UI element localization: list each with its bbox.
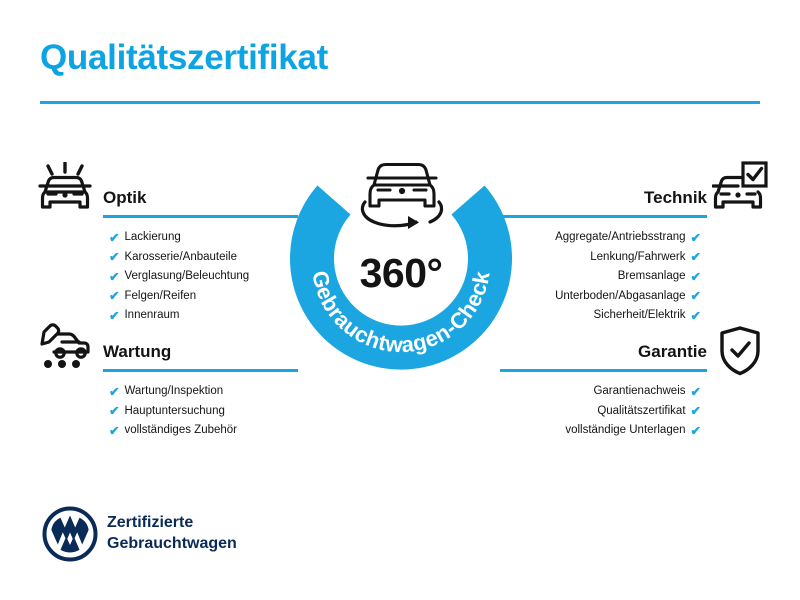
list-item: ✔Innenraum bbox=[103, 306, 298, 326]
list-item-label: Qualitätszertifikat bbox=[597, 402, 685, 422]
list-item: Garantienachweis✔ bbox=[500, 382, 707, 402]
list-item-label: Karosserie/Anbauteile bbox=[124, 248, 237, 268]
certificate-page: Qualitätszertifikat bbox=[0, 0, 800, 600]
section-technik-title: Technik bbox=[500, 186, 707, 210]
list-item: ✔vollständiges Zubehör bbox=[103, 421, 298, 441]
section-wartung: Wartung ✔Wartung/Inspektion ✔Hauptunters… bbox=[103, 340, 298, 441]
section-technik-list: Aggregate/Antriebsstrang✔ Lenkung/Fahrwe… bbox=[500, 228, 707, 326]
list-item: Bremsanlage✔ bbox=[500, 267, 707, 287]
section-garantie-list: Garantienachweis✔ Qualitätszertifikat✔ v… bbox=[500, 382, 707, 441]
list-item-label: vollständiges Zubehör bbox=[124, 421, 237, 441]
section-wartung-divider bbox=[103, 369, 298, 372]
list-item-label: Lackierung bbox=[124, 228, 180, 248]
check-icon: ✔ bbox=[109, 271, 119, 284]
list-item: ✔Lackierung bbox=[103, 228, 298, 248]
check-icon: ✔ bbox=[691, 232, 701, 245]
check-icon: ✔ bbox=[109, 232, 119, 245]
car-rotate-icon bbox=[352, 154, 452, 232]
list-item: Sicherheit/Elektrik✔ bbox=[500, 306, 707, 326]
shield-check-icon bbox=[718, 326, 762, 381]
check-icon: ✔ bbox=[691, 405, 701, 418]
list-item-label: Hauptuntersuchung bbox=[124, 402, 224, 422]
check-icon: ✔ bbox=[109, 386, 119, 399]
list-item: ✔Hauptuntersuchung bbox=[103, 402, 298, 422]
section-optik-title: Optik bbox=[103, 186, 298, 210]
check-icon: ✔ bbox=[109, 425, 119, 438]
section-optik-list: ✔Lackierung ✔Karosserie/Anbauteile ✔Verg… bbox=[103, 228, 298, 326]
list-item: Aggregate/Antriebsstrang✔ bbox=[500, 228, 707, 248]
list-item-label: Verglasung/Beleuchtung bbox=[124, 267, 249, 287]
check-icon: ✔ bbox=[691, 271, 701, 284]
section-optik: Optik ✔Lackierung ✔Karosserie/Anbauteile… bbox=[103, 186, 298, 326]
check-icon: ✔ bbox=[109, 405, 119, 418]
section-wartung-list: ✔Wartung/Inspektion ✔Hauptuntersuchung ✔… bbox=[103, 382, 298, 441]
car-lights-icon bbox=[36, 162, 94, 219]
section-garantie-title: Garantie bbox=[500, 340, 707, 364]
check-icon: ✔ bbox=[109, 251, 119, 264]
section-garantie-header: Garantie bbox=[500, 340, 707, 372]
check-icon: ✔ bbox=[691, 425, 701, 438]
check-icon: ✔ bbox=[691, 290, 701, 303]
section-garantie: Garantie Garantienachweis✔ Qualitätszert… bbox=[500, 340, 707, 441]
car-checkbox-icon bbox=[712, 160, 768, 219]
vw-wordmark: Zertifizierte Gebrauchtwagen bbox=[107, 512, 237, 554]
360-check-badge: Gebrauchtwagen-Check 360° bbox=[290, 152, 512, 374]
vw-wordmark-line2: Gebrauchtwagen bbox=[107, 533, 237, 554]
check-icon: ✔ bbox=[691, 310, 701, 323]
vw-logo-icon bbox=[42, 506, 98, 567]
section-garantie-divider bbox=[500, 369, 707, 372]
list-item: ✔Karosserie/Anbauteile bbox=[103, 248, 298, 268]
list-item: Lenkung/Fahrwerk✔ bbox=[500, 248, 707, 268]
list-item-label: Lenkung/Fahrwerk bbox=[590, 248, 685, 268]
list-item-label: vollständige Unterlagen bbox=[565, 421, 685, 441]
list-item: Unterboden/Abgasanlage✔ bbox=[500, 287, 707, 307]
section-optik-divider bbox=[103, 215, 298, 218]
list-item-label: Wartung/Inspektion bbox=[124, 382, 223, 402]
list-item: vollständige Unterlagen✔ bbox=[500, 421, 707, 441]
list-item: Qualitätszertifikat✔ bbox=[500, 402, 707, 422]
section-wartung-title: Wartung bbox=[103, 340, 298, 364]
page-title: Qualitätszertifikat bbox=[40, 38, 328, 78]
list-item-label: Sicherheit/Elektrik bbox=[593, 306, 685, 326]
check-icon: ✔ bbox=[109, 310, 119, 323]
service-record-icon bbox=[36, 320, 94, 377]
list-item: ✔Verglasung/Beleuchtung bbox=[103, 267, 298, 287]
section-technik-divider bbox=[500, 215, 707, 218]
list-item-label: Garantienachweis bbox=[593, 382, 685, 402]
check-icon: ✔ bbox=[691, 386, 701, 399]
list-item-label: Aggregate/Antriebsstrang bbox=[555, 228, 685, 248]
check-icon: ✔ bbox=[691, 251, 701, 264]
section-wartung-header: Wartung bbox=[103, 340, 298, 372]
section-technik: Technik Aggregate/Antriebsstrang✔ Lenkun… bbox=[500, 186, 707, 326]
list-item: ✔Wartung/Inspektion bbox=[103, 382, 298, 402]
list-item: ✔Felgen/Reifen bbox=[103, 287, 298, 307]
title-divider bbox=[40, 101, 760, 104]
check-icon: ✔ bbox=[109, 290, 119, 303]
list-item-label: Bremsanlage bbox=[618, 267, 686, 287]
vw-wordmark-line1: Zertifizierte bbox=[107, 512, 237, 533]
list-item-label: Innenraum bbox=[124, 306, 179, 326]
section-technik-header: Technik bbox=[500, 186, 707, 218]
section-optik-header: Optik bbox=[103, 186, 298, 218]
list-item-label: Unterboden/Abgasanlage bbox=[555, 287, 685, 307]
list-item-label: Felgen/Reifen bbox=[124, 287, 196, 307]
